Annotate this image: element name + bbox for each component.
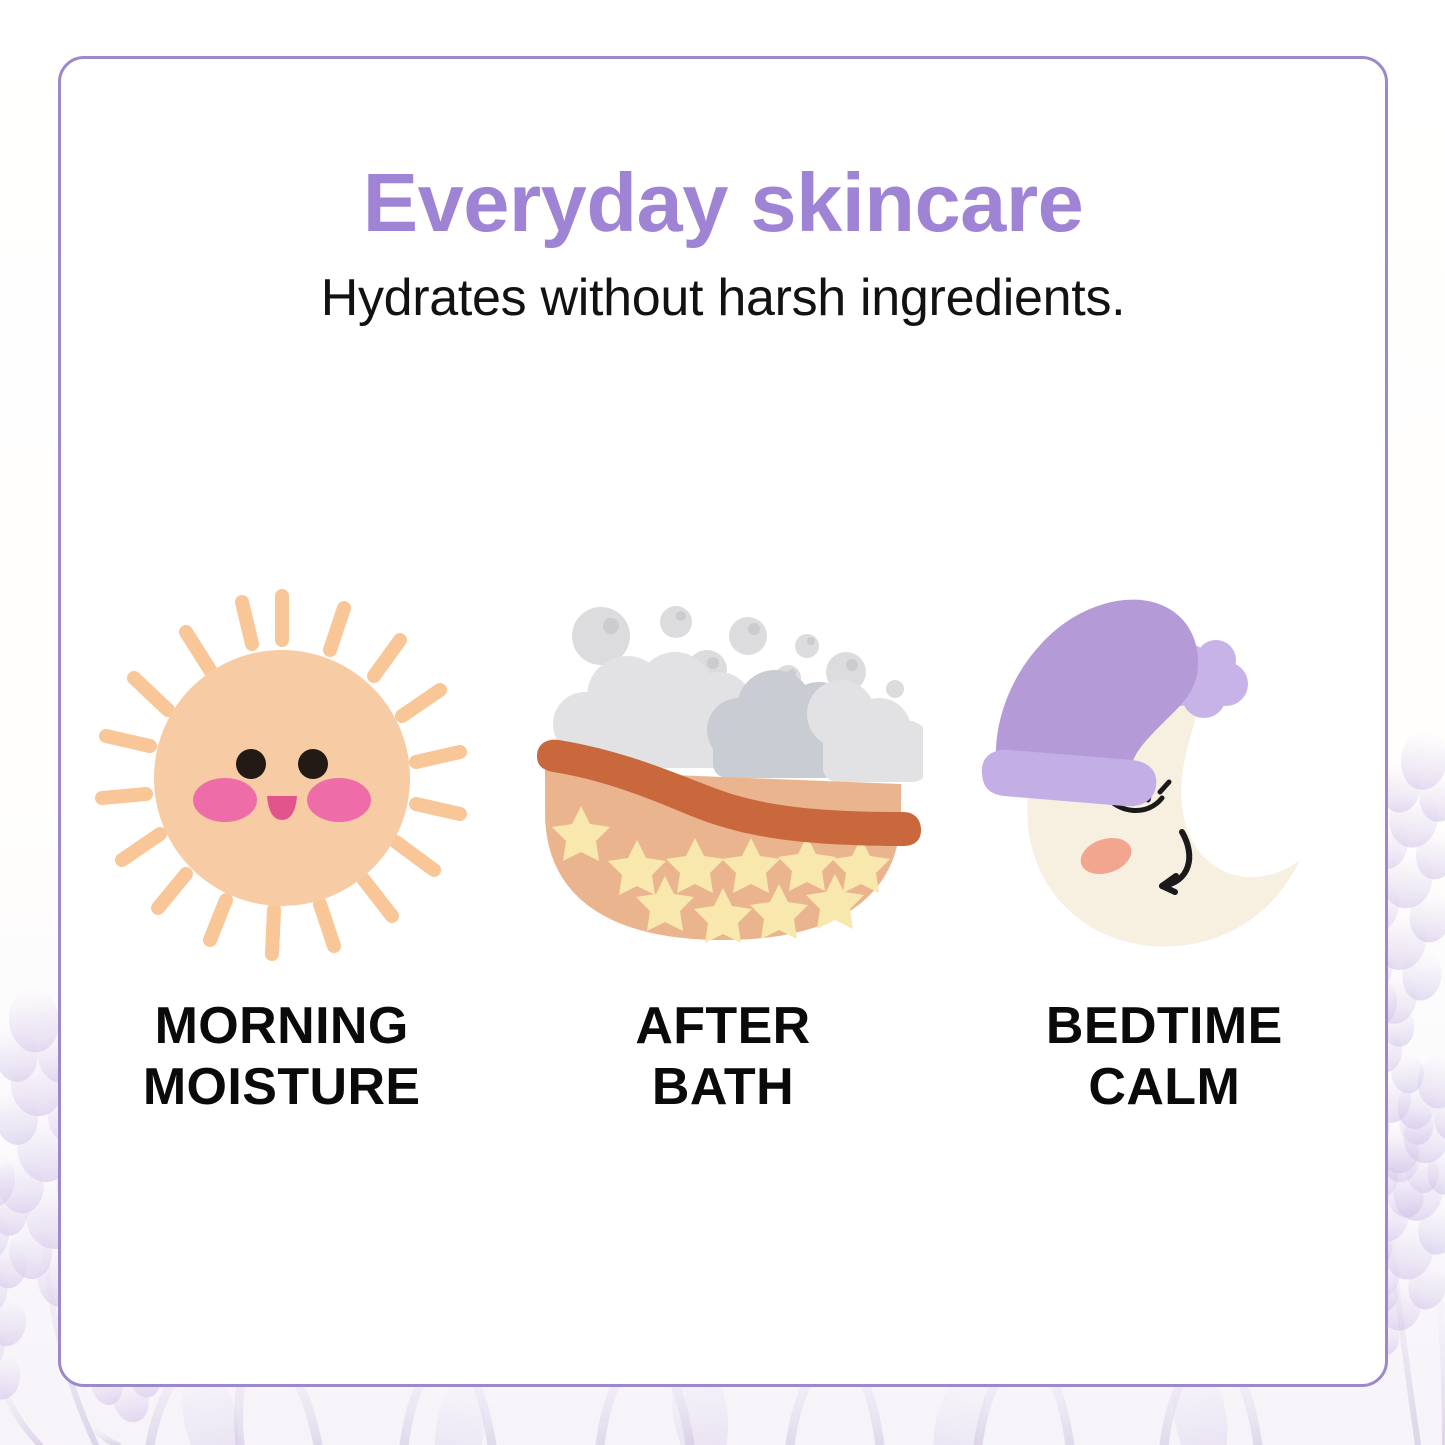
routine-step-label: MORNING MOISTURE bbox=[143, 996, 421, 1119]
smiling-sun-icon bbox=[72, 574, 492, 974]
routine-step-morning-moisture: MORNING MOISTURE bbox=[72, 574, 492, 1119]
info-card: Everyday skincare Hydrates without harsh… bbox=[58, 56, 1388, 1387]
routine-step-after-bath: AFTER BATH bbox=[513, 574, 933, 1119]
routine-step-label: BEDTIME CALM bbox=[1046, 996, 1283, 1119]
routine-steps-row: MORNING MOISTURE bbox=[61, 574, 1385, 1119]
routine-step-bedtime-calm: BEDTIME CALM bbox=[954, 574, 1374, 1119]
page-title: Everyday skincare bbox=[61, 159, 1385, 246]
sleeping-moon-icon bbox=[954, 574, 1374, 974]
bubble-bathtub-icon bbox=[513, 574, 933, 974]
card-header: Everyday skincare Hydrates without harsh… bbox=[61, 159, 1385, 328]
page-subtitle: Hydrates without harsh ingredients. bbox=[61, 268, 1385, 328]
routine-step-label: AFTER BATH bbox=[635, 996, 810, 1119]
